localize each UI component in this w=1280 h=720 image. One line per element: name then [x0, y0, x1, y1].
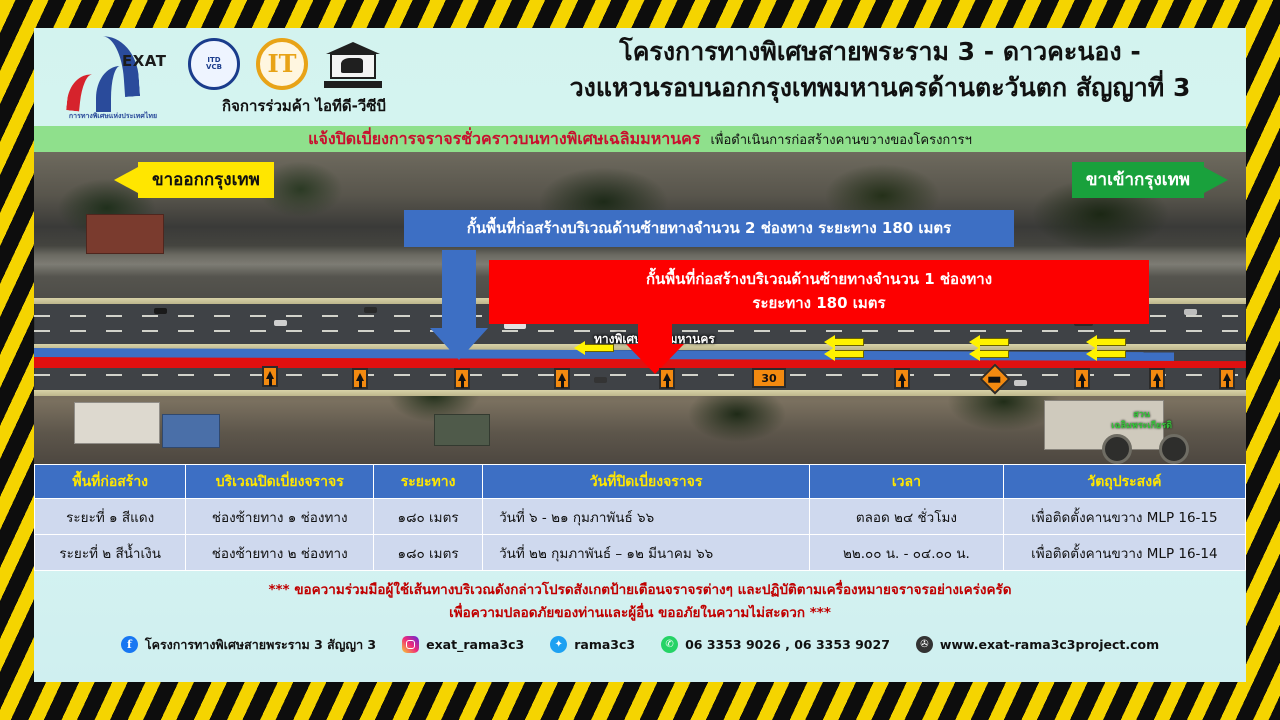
merge-arrow-icon: [1096, 350, 1126, 358]
temple-emblem-icon: [324, 38, 382, 90]
announcement-banner: แจ้งปิดเบี่ยงการจราจรชั่วคราวบนทางพิเศษเ…: [34, 126, 1246, 152]
globe-icon: ✇: [916, 636, 933, 653]
sign-arrow-up-glyph: [663, 373, 671, 381]
contact-bar: f โครงการทางพิเศษสายพระราม 3 สัญญา 3 exa…: [34, 629, 1246, 655]
building: [74, 402, 160, 444]
sign-arrow-up-glyph: [558, 373, 566, 381]
roundabout: [1102, 434, 1132, 464]
building: [86, 214, 164, 254]
phase1-pointer-arrow-icon: [638, 300, 684, 374]
column-header-zone: บริเวณปิดเบี่ยงจราจร: [186, 465, 374, 499]
construction-sign-icon: [1149, 368, 1165, 389]
table-header-row: พื้นที่ก่อสร้าง บริเวณปิดเบี่ยงจราจร ระย…: [35, 465, 1246, 499]
page-title-line1: โครงการทางพิเศษสายพระราม 3 - ดาวคะนอง -: [530, 34, 1230, 70]
contact-instagram-label: exat_rama3c3: [426, 637, 524, 652]
inbound-direction-tag: ขาเข้ากรุงเทพ: [1072, 162, 1228, 198]
poster-card: EXAT การทางพิเศษแห่งประเทศไทย ITDVCB IT …: [34, 28, 1246, 682]
sign-arrow-up-glyph: [898, 373, 906, 381]
sign-arrow-up-glyph: [1153, 373, 1161, 381]
contact-instagram[interactable]: exat_rama3c3: [402, 636, 524, 653]
building: [434, 414, 490, 446]
construction-sign-icon: [1074, 368, 1090, 389]
merge-arrow-icon: [834, 350, 864, 358]
temple-horse-shape: [341, 58, 363, 73]
cell-dates: วันที่ ๒๒ กุมภาพันธ์ – ๑๒ มีนาคม ๖๖: [483, 535, 810, 571]
contact-website[interactable]: ✇ www.exat-rama3c3project.com: [916, 636, 1159, 653]
itd-logo-icon: IT: [256, 38, 308, 90]
park-map-label: สวน เฉลิมพระเกียรติ: [1111, 410, 1172, 433]
construction-sign-icon: [352, 368, 368, 389]
aerial-map: ทางพิเศษเฉลิมมหานคร ขาออกกรุงเทพ ขาเข้าก…: [34, 152, 1246, 464]
column-header-time: เวลา: [810, 465, 1004, 499]
cell-area: ระยะที่ ๑ สีแดง: [35, 499, 186, 535]
construction-sign-icon: [554, 368, 570, 389]
itd-logo-text: IT: [267, 51, 296, 76]
building: [162, 414, 220, 448]
cell-zone: ช่องซ้ายทาง ๑ ช่องทาง: [186, 499, 374, 535]
merge-arrow-icon: [584, 344, 614, 352]
lane-marking: [34, 374, 1246, 376]
vehicle: [154, 308, 167, 314]
phase2-callout-box: กั้นพื้นที่ก่อสร้างบริเวณด้านซ้ายทางจำนว…: [404, 210, 1014, 247]
column-header-distance: ระยะทาง: [374, 465, 483, 499]
closure-schedule-table: พื้นที่ก่อสร้าง บริเวณปิดเบี่ยงจราจร ระย…: [34, 464, 1246, 571]
merge-arrow-icon: [979, 338, 1009, 346]
merge-arrow-icon: [1096, 338, 1126, 346]
arrow-stem-shape: [638, 300, 672, 344]
announcement-subtext: เพื่อดำเนินการก่อสร้างคานขวางของโครงการฯ: [710, 129, 971, 150]
cell-distance: ๑๘๐ เมตร: [374, 499, 483, 535]
joint-venture-name: กิจการร่วมค้า ไอทีดี-วีซีบี: [222, 94, 386, 118]
cell-time: ตลอด ๒๔ ชั่วโมง: [810, 499, 1004, 535]
exat-logo-subtitle: การทางพิเศษแห่งประเทศไทย: [54, 111, 172, 122]
temple-base-shape: [324, 81, 382, 88]
construction-sign-icon: [1219, 368, 1235, 389]
facebook-icon: f: [121, 636, 138, 653]
cell-dates: วันที่ ๖ - ๒๑ กุมภาพันธ์ ๖๖: [483, 499, 810, 535]
arrow-head-shape: [430, 328, 488, 360]
arrow-left-icon: [114, 167, 138, 193]
median-barrier-lower: [34, 390, 1246, 396]
construction-sign-icon: [659, 368, 675, 389]
column-header-purpose: วัตถุประสงค์: [1003, 465, 1245, 499]
column-header-dates: วันที่ปิดเบี่ยงจราจร: [483, 465, 810, 499]
vehicle: [364, 307, 377, 313]
inbound-direction-label: ขาเข้ากรุงเทพ: [1072, 162, 1204, 198]
exat-logo-wordmark: EXAT: [122, 52, 167, 70]
vehicle: [594, 377, 607, 383]
merge-arrow-icon: [979, 350, 1009, 358]
vehicle: [1184, 309, 1197, 315]
cell-area: ระยะที่ ๒ สีน้ำเงิน: [35, 535, 186, 571]
cell-purpose: เพื่อติดตั้งคานขวาง MLP 16-14: [1003, 535, 1245, 571]
arrow-right-icon: [1204, 167, 1228, 193]
poster-hazard-border: EXAT การทางพิเศษแห่งประเทศไทย ITDVCB IT …: [0, 0, 1280, 720]
contact-facebook[interactable]: f โครงการทางพิเศษสายพระราม 3 สัญญา 3: [121, 635, 376, 655]
contact-twitter[interactable]: ✦ rama3c3: [550, 636, 635, 653]
cell-purpose: เพื่อติดตั้งคานขวาง MLP 16-15: [1003, 499, 1245, 535]
cell-time: ๒๒.๐๐ น. - ๐๔.๐๐ น.: [810, 535, 1004, 571]
phase1-callout-line1: กั้นพื้นที่ก่อสร้างบริเวณด้านซ้ายทางจำนว…: [497, 267, 1141, 291]
contact-phone[interactable]: ✆ 06 3353 9026 , 06 3353 9027: [661, 636, 890, 653]
whatsapp-icon: ✆: [661, 636, 678, 653]
contact-twitter-label: rama3c3: [574, 637, 635, 652]
instagram-icon-inner-shape: [406, 640, 415, 649]
safety-notice-line2: เพื่อความปลอดภัยของท่านและผู้อื่น ขออภัย…: [34, 602, 1246, 625]
cell-zone: ช่องซ้ายทาง ๒ ช่องทาง: [186, 535, 374, 571]
contact-phone-label: 06 3353 9026 , 06 3353 9027: [685, 637, 890, 652]
page-title: โครงการทางพิเศษสายพระราม 3 - ดาวคะนอง - …: [530, 34, 1230, 105]
instagram-icon: [402, 636, 419, 653]
vehicle: [1014, 380, 1027, 386]
phase2-pointer-arrow-icon: [442, 250, 488, 360]
twitter-icon: ✦: [550, 636, 567, 653]
park-map-label-line1: สวน: [1111, 410, 1172, 421]
phase1-callout-line2: ระยะทาง 180 เมตร: [497, 291, 1141, 315]
safety-notice-line1: *** ขอความร่วมมือผู้ใช้เส้นทางบริเวณดังก…: [34, 579, 1246, 602]
roundabout: [1159, 434, 1189, 464]
arrow-stem-shape: [442, 250, 476, 328]
outbound-direction-label: ขาออกกรุงเทพ: [138, 162, 274, 198]
arrow-head-shape: [626, 344, 684, 374]
outbound-direction-tag: ขาออกกรุงเทพ: [114, 162, 274, 198]
exat-logo: EXAT การทางพิเศษแห่งประเทศไทย: [52, 30, 172, 120]
table-row: ระยะที่ ๒ สีน้ำเงิน ช่องซ้ายทาง ๒ ช่องทา…: [35, 535, 1246, 571]
contact-website-label: www.exat-rama3c3project.com: [940, 637, 1159, 652]
merge-arrow-icon: [834, 338, 864, 346]
column-header-area: พื้นที่ก่อสร้าง: [35, 465, 186, 499]
construction-sign-icon: [894, 368, 910, 389]
phase1-callout-box: กั้นพื้นที่ก่อสร้างบริเวณด้านซ้ายทางจำนว…: [489, 260, 1149, 324]
table-row: ระยะที่ ๑ สีแดง ช่องซ้ายทาง ๑ ช่องทาง ๑๘…: [35, 499, 1246, 535]
sign-arrow-up-glyph: [458, 373, 466, 381]
joint-venture-seal-icon: ITDVCB: [188, 38, 240, 90]
sign-arrow-up-glyph: [356, 373, 364, 381]
announcement-headline: แจ้งปิดเบี่ยงการจราจรชั่วคราวบนทางพิเศษเ…: [308, 127, 700, 152]
vehicle: [274, 320, 287, 326]
sign-arrow-up-glyph: [266, 371, 274, 379]
safety-notice: *** ขอความร่วมมือผู้ใช้เส้นทางบริเวณดังก…: [34, 571, 1246, 629]
construction-sign-icon: [454, 368, 470, 389]
construction-sign-icon: [262, 366, 278, 387]
cell-distance: ๑๘๐ เมตร: [374, 535, 483, 571]
header: EXAT การทางพิเศษแห่งประเทศไทย ITDVCB IT …: [34, 28, 1246, 126]
park-map-label-line2: เฉลิมพระเกียรติ: [1111, 421, 1172, 432]
joint-venture-seal-text: ITDVCB: [206, 57, 222, 72]
sign-arrow-up-glyph: [1223, 373, 1231, 381]
speed-limit-30-sign: 30: [752, 368, 786, 388]
page-title-line2: วงแหวนรอบนอกกรุงเทพมหานครด้านตะวันตก สัญ…: [530, 70, 1230, 106]
sign-arrow-up-glyph: [1078, 373, 1086, 381]
contact-facebook-label: โครงการทางพิเศษสายพระราม 3 สัญญา 3: [145, 635, 376, 655]
